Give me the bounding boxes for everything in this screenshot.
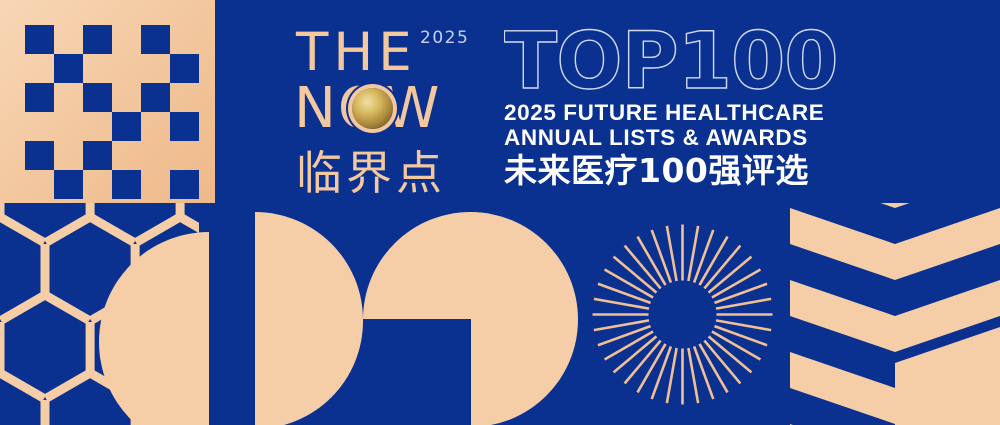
headline-english-line1: 2025 FUTURE HEALTHCARE bbox=[504, 100, 844, 125]
checker-cell bbox=[83, 83, 112, 112]
gold-orb-icon bbox=[352, 88, 393, 129]
stripe-band-left bbox=[790, 352, 895, 424]
checker-cell bbox=[25, 83, 54, 112]
semicircle-right-shape bbox=[255, 212, 363, 425]
logo-year-text: 2025 bbox=[420, 28, 469, 48]
checker-cell bbox=[170, 112, 199, 141]
checker-cell bbox=[141, 25, 170, 54]
checker-cell bbox=[54, 170, 83, 199]
checker-cell bbox=[83, 25, 112, 54]
quarter-notched-circle-shape bbox=[363, 212, 578, 425]
logo-the-text: THE bbox=[296, 26, 417, 79]
checker-cell bbox=[83, 141, 112, 170]
headline-english-line2: ANNUAL LISTS & AWARDS bbox=[504, 125, 844, 150]
headline-chinese: 未来医疗100强评选 bbox=[504, 152, 844, 190]
stripe-band-left bbox=[790, 203, 895, 208]
checkerboard-pattern bbox=[0, 0, 215, 203]
stripe-band-left bbox=[790, 208, 895, 280]
headline-block: TOP100 2025 FUTURE HEALTHCARE ANNUAL LIS… bbox=[504, 22, 844, 190]
checker-cell bbox=[25, 141, 54, 170]
stripe-band-right bbox=[895, 203, 1000, 208]
pac-circle-notch bbox=[363, 319, 471, 425]
stripe-band-right bbox=[895, 208, 1000, 280]
award-banner: THE 2025 NOW 临界点 TOP100 2025 FUTURE HEAL… bbox=[0, 0, 1000, 425]
checker-cell bbox=[141, 83, 170, 112]
checker-cell bbox=[112, 112, 141, 141]
svg-text:TOP100: TOP100 bbox=[504, 22, 838, 100]
top100-outline-title: TOP100 bbox=[504, 22, 840, 100]
checker-cell bbox=[170, 170, 199, 199]
stripe-band-left bbox=[790, 280, 895, 352]
checker-cell bbox=[54, 54, 83, 83]
sunburst-pattern bbox=[590, 222, 775, 407]
logo-chinese-text: 临界点 bbox=[296, 150, 446, 196]
the-now-logo: THE 2025 NOW 临界点 bbox=[296, 26, 486, 191]
checker-cell bbox=[25, 25, 54, 54]
chevron-stripes-pattern bbox=[790, 203, 1000, 425]
checker-cell bbox=[170, 54, 199, 83]
checker-cell bbox=[112, 170, 141, 199]
